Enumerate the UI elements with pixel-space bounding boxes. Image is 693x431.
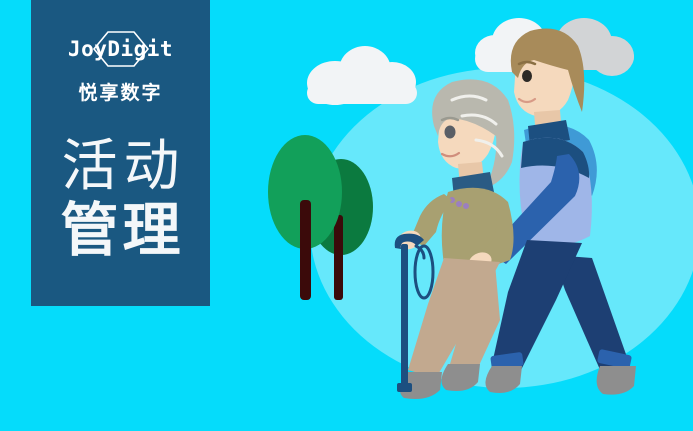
brand-logo: JoyDigit	[56, 30, 186, 68]
woman-eye	[445, 126, 456, 139]
title-panel: JoyDigit 悦享数字 活动 管理	[31, 0, 210, 306]
page-title: 活动 管理	[31, 138, 210, 260]
man-eye	[522, 70, 532, 82]
page-title-line-2: 管理	[31, 201, 210, 260]
brand-block: JoyDigit 悦享数字	[31, 30, 210, 105]
brand-wordmark: JoyDigit	[56, 30, 186, 68]
brand-subtitle: 悦享数字	[31, 78, 210, 105]
page-title-line-1: 活动	[31, 138, 210, 195]
poster-canvas: JoyDigit 悦享数字 活动 管理	[0, 0, 693, 431]
